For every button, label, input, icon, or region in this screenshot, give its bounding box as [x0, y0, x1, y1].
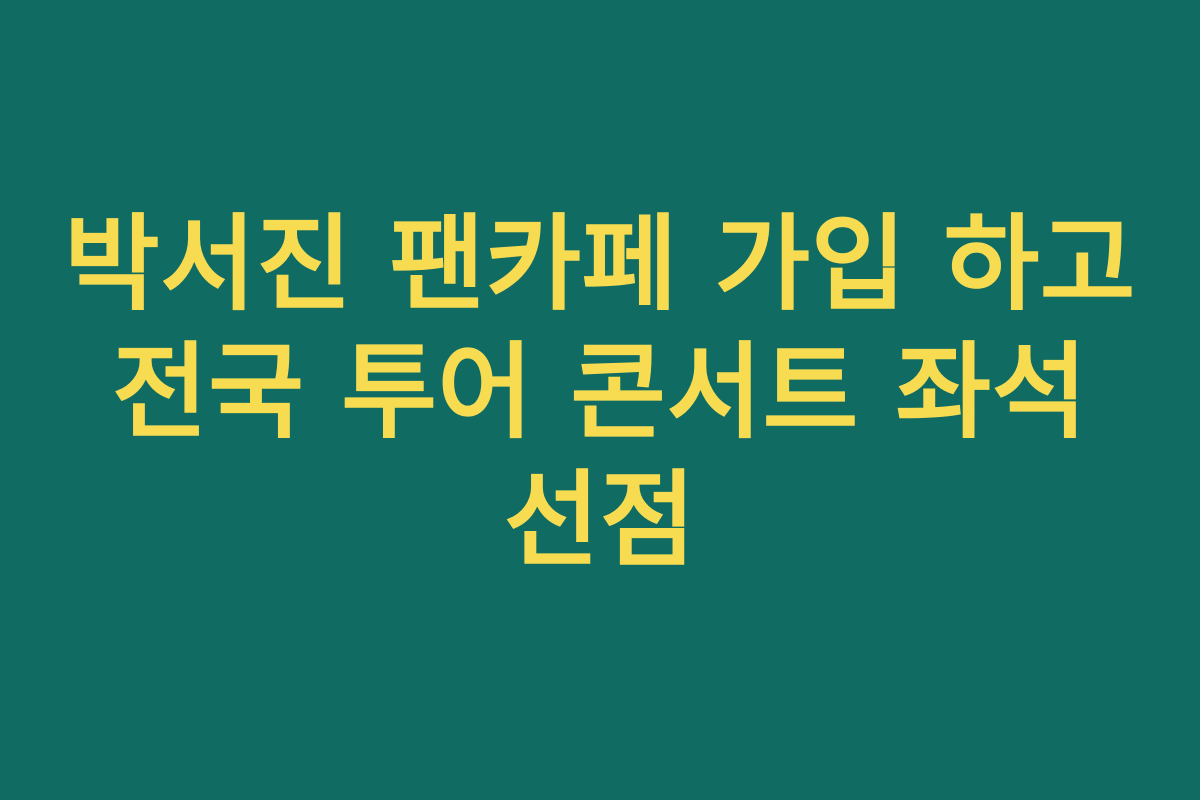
headline-line-2: 전국 투어 콘서트 좌석	[60, 328, 1140, 456]
headline-line-3: 선점	[60, 456, 1140, 584]
text-card-banner: 박서진 팬카페 가입 하고 전국 투어 콘서트 좌석 선점	[0, 0, 1200, 800]
headline-text: 박서진 팬카페 가입 하고 전국 투어 콘서트 좌석 선점	[60, 200, 1140, 600]
headline-line-1: 박서진 팬카페 가입 하고	[60, 200, 1140, 328]
